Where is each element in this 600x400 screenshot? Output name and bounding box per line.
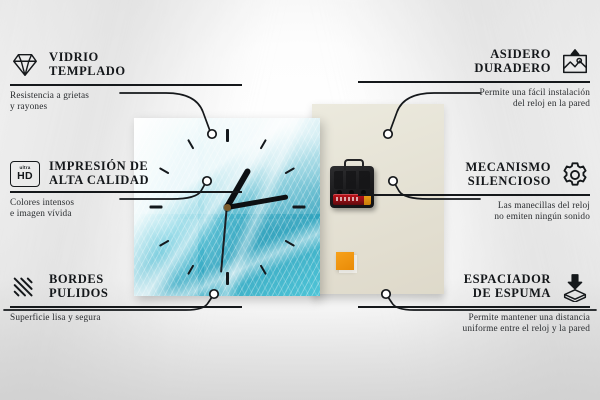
feature-header: VIDRIO TEMPLADO	[10, 50, 242, 80]
feature-header: MECANISMO SILENCIOSO	[358, 160, 590, 190]
hanging-picture-frame-icon	[560, 47, 590, 77]
feature-title: IMPRESIÓN DE ALTA CALIDAD	[49, 160, 149, 187]
feature-desc-line2: del reloj en la pared	[358, 99, 590, 110]
feature-desc-line1: Colores intensos	[10, 198, 242, 209]
press-down-foam-icon	[560, 272, 590, 302]
infographic-canvas: VIDRIO TEMPLADO Resistencia a grietas y …	[0, 0, 600, 400]
feature-header: ultra HD IMPRESIÓN DE ALTA CALIDAD	[10, 160, 242, 187]
feature-desc-line2: y rayones	[10, 102, 242, 113]
feature-desc-line1: Superficie lisa y segura	[10, 313, 242, 324]
feature-desc-line2: uniforme entre el reloj y la pared	[358, 324, 590, 335]
clock-tick	[226, 129, 229, 142]
feature-desc-line1: Las manecillas del reloj	[358, 201, 590, 212]
feature-title: ASIDERO DURADERO	[474, 48, 551, 75]
feature-desc-line1: Permite mantener una distancia	[358, 313, 590, 324]
feature-vidrio-templado[interactable]: VIDRIO TEMPLADO Resistencia a grietas y …	[10, 50, 242, 113]
feature-title: ESPACIADOR DE ESPUMA	[464, 273, 551, 300]
feature-impresion-alta-calidad[interactable]: ultra HD IMPRESIÓN DE ALTA CALIDAD Color…	[10, 160, 242, 221]
feature-header: BORDES PULIDOS	[10, 272, 242, 302]
feature-header: ESPACIADOR DE ESPUMA	[358, 272, 590, 302]
feature-asidero-duradero[interactable]: ASIDERO DURADERO Permite una fácil insta…	[358, 47, 590, 110]
feature-rule	[10, 306, 242, 308]
clock-tick	[292, 206, 305, 209]
gear-icon	[560, 160, 590, 190]
feature-bordes-pulidos[interactable]: BORDES PULIDOS Superficie lisa y segura	[10, 272, 242, 324]
feature-desc-line1: Resistencia a grietas	[10, 91, 242, 102]
hd-label: HD	[17, 171, 33, 182]
foam-spacer-pad	[336, 252, 354, 270]
feature-rule	[358, 306, 590, 308]
feature-title: BORDES PULIDOS	[49, 273, 108, 300]
feature-rule	[10, 191, 242, 193]
ultra-hd-badge-icon: ultra HD	[10, 161, 40, 187]
feature-espaciador-de-espuma[interactable]: ESPACIADOR DE ESPUMA Permite mantener un…	[358, 272, 590, 335]
feature-rule	[358, 194, 590, 196]
polished-edges-icon	[10, 272, 40, 302]
feature-header: ASIDERO DURADERO	[358, 47, 590, 77]
feature-desc-line1: Permite una fácil instalación	[358, 88, 590, 99]
diamond-icon	[10, 50, 40, 80]
feature-desc-line2: no emiten ningún sonido	[358, 212, 590, 223]
feature-title: VIDRIO TEMPLADO	[49, 51, 126, 78]
feature-mecanismo-silencioso[interactable]: MECANISMO SILENCIOSO Las manecillas del …	[358, 160, 590, 223]
feature-rule	[358, 81, 590, 83]
feature-title: MECANISMO SILENCIOSO	[465, 161, 551, 188]
feature-desc-line2: e imagen vívida	[10, 209, 242, 220]
feature-rule	[10, 84, 242, 86]
battery-label	[336, 197, 360, 201]
